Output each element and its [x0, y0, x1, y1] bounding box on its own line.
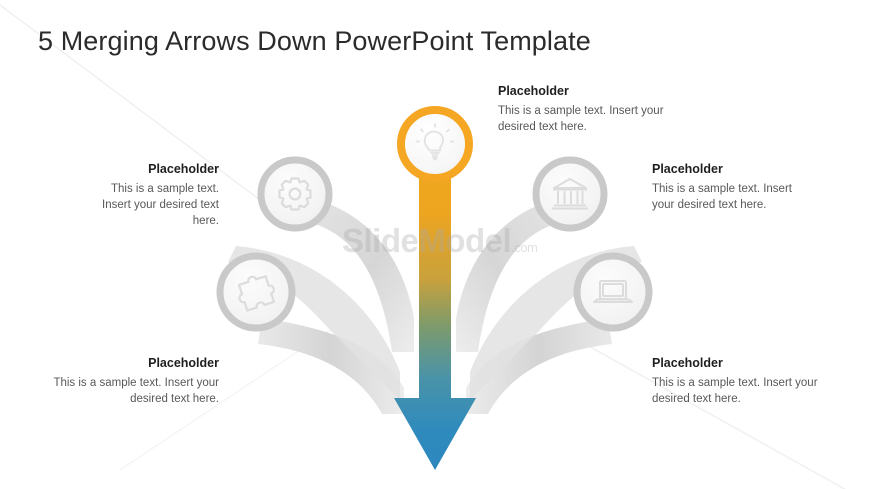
- node-upper-right[interactable]: [536, 160, 604, 228]
- merging-arrows-diagram: [0, 0, 870, 489]
- placeholder-body-lower-left: This is a sample text. Insert your desir…: [52, 375, 219, 408]
- placeholder-heading-lower-left: Placeholder: [52, 356, 219, 372]
- node-lower-right[interactable]: [577, 256, 649, 328]
- placeholder-body-top-center: This is a sample text. Insert your desir…: [498, 103, 666, 136]
- placeholder-body-upper-right: This is a sample text. Insert your desir…: [652, 181, 792, 214]
- placeholder-body-upper-left: This is a sample text. Insert your desir…: [84, 181, 219, 230]
- placeholder-heading-top-center: Placeholder: [498, 84, 666, 100]
- text-block-lower-right: Placeholder This is a sample text. Inser…: [652, 356, 822, 407]
- slide-canvas: 5 Merging Arrows Down PowerPoint Templat…: [0, 0, 870, 489]
- placeholder-body-lower-right: This is a sample text. Insert your desir…: [652, 375, 822, 408]
- text-block-lower-left: Placeholder This is a sample text. Inser…: [52, 356, 219, 407]
- placeholder-heading-upper-left: Placeholder: [84, 162, 219, 178]
- node-top-center[interactable]: [401, 110, 469, 178]
- text-block-upper-right: Placeholder This is a sample text. Inser…: [652, 162, 792, 213]
- text-block-top-center: Placeholder This is a sample text. Inser…: [498, 84, 666, 135]
- node-lower-left[interactable]: [220, 256, 292, 328]
- placeholder-heading-upper-right: Placeholder: [652, 162, 792, 178]
- placeholder-heading-lower-right: Placeholder: [652, 356, 822, 372]
- node-upper-left[interactable]: [261, 160, 329, 228]
- text-block-upper-left: Placeholder This is a sample text. Inser…: [84, 162, 219, 230]
